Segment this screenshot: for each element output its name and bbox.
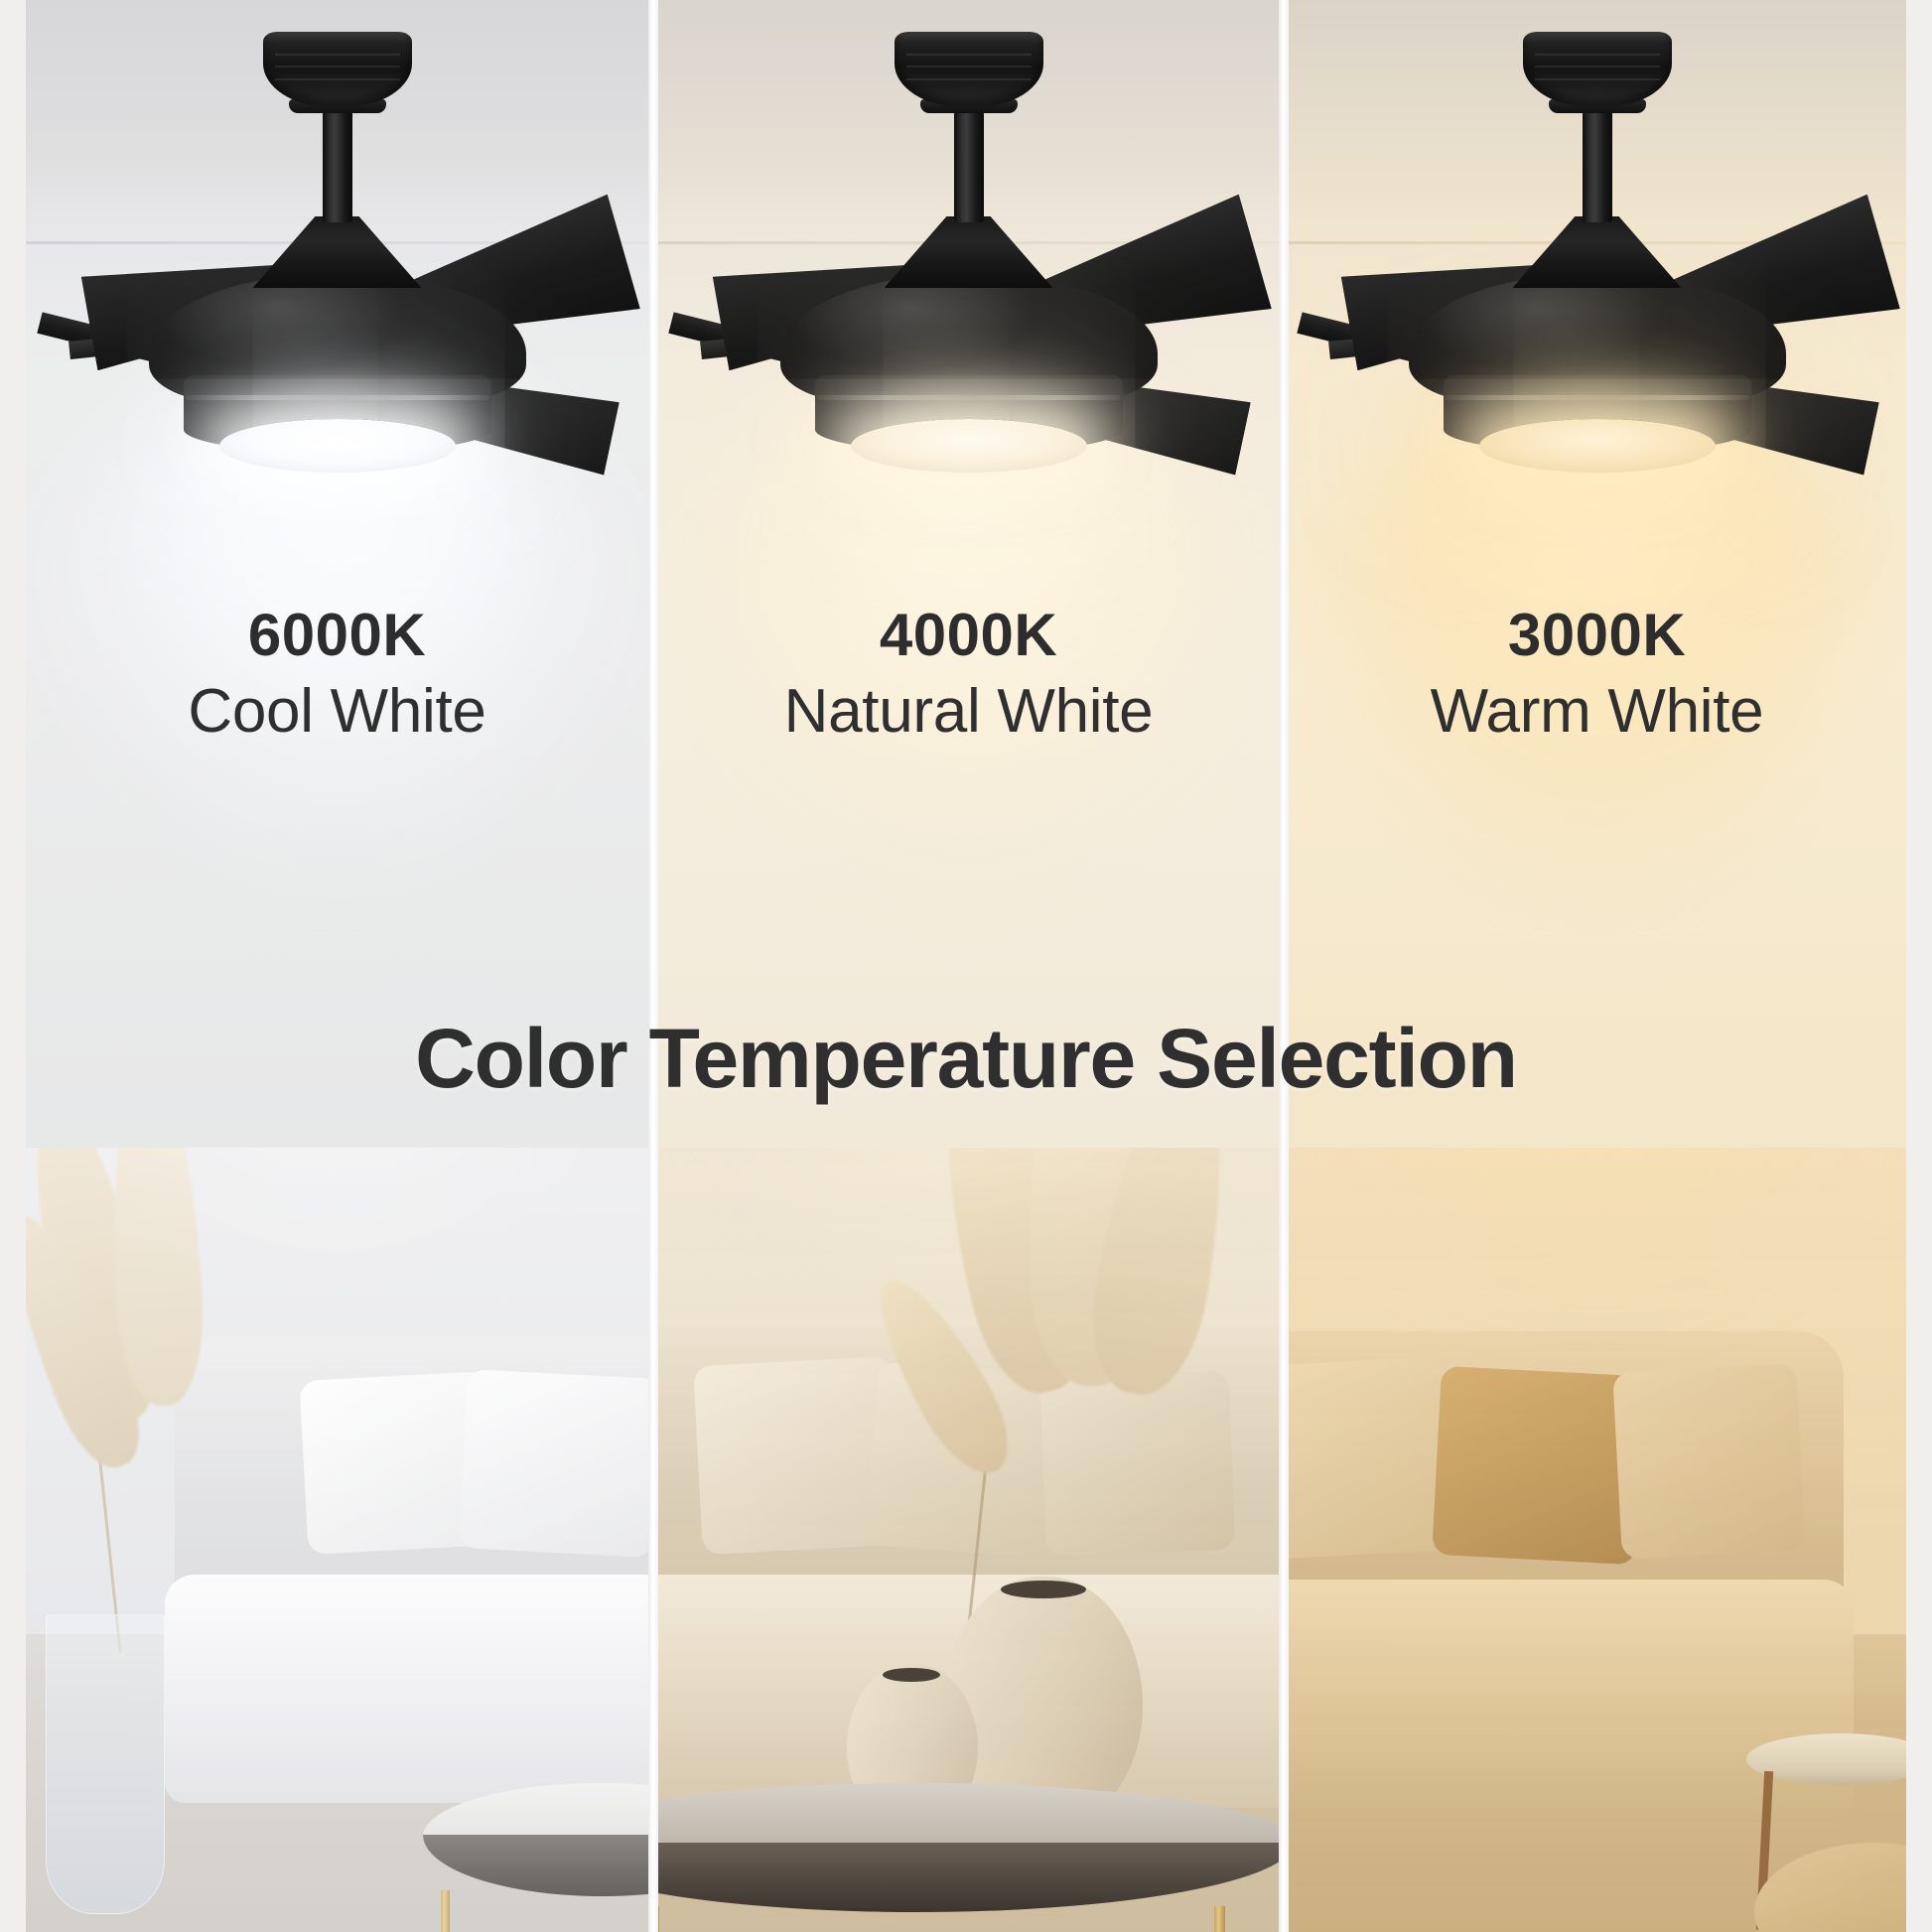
room-scene-natural [658,1148,1279,1932]
fan-downrod [323,111,352,222]
label-block-natural: 4000K Natural White [658,606,1279,744]
fan-motor-seam [186,395,489,400]
ceiling-fan-warm [1319,26,1875,492]
temp-name-warm: Warm White [1288,679,1906,744]
room-scene-cool [26,1148,648,1932]
fan-canopy [263,32,412,107]
panel-warm-white: 3000K Warm White [1288,0,1906,1932]
panel-divider [1279,0,1289,1932]
panel-cool-white: 6000K Cool White [26,0,648,1932]
throw-pillow [1612,1363,1806,1559]
panel-natural-white: 4000K Natural White [658,0,1279,1932]
label-block-cool: 6000K Cool White [26,606,648,744]
temp-name-natural: Natural White [658,679,1279,744]
fan-bell-yoke [885,216,1053,288]
page-title: Color Temperature Selection [0,1011,1932,1107]
glass-vase [46,1614,165,1914]
left-margin [0,0,26,1932]
room-scene-warm [1288,1148,1906,1932]
fan-downrod [1583,111,1612,222]
fan-bell-yoke [253,216,422,288]
fan-motor-seam [817,395,1121,400]
product-comparison-image: 6000K Cool White [0,0,1932,1932]
throw-pillow [1040,1371,1235,1557]
label-block-warm: 3000K Warm White [1288,606,1906,744]
fan-motor-seam [1446,395,1749,400]
fan-bell-yoke [1513,216,1682,288]
kelvin-value-warm: 3000K [1288,606,1906,665]
ceiling-fan-natural [691,26,1247,492]
light-diffuser-cool [219,419,456,473]
fan-canopy [1523,32,1672,107]
ceiling-fan-cool [60,26,616,492]
sofa-seat-cool [165,1575,648,1803]
temp-name-cool: Cool White [26,679,648,744]
panel-divider [648,0,658,1932]
light-diffuser-warm [1479,419,1716,473]
fan-downrod [954,111,984,222]
light-diffuser-natural [851,419,1087,473]
throw-pillow [458,1369,648,1558]
kelvin-value-natural: 4000K [658,606,1279,665]
fan-canopy [895,32,1043,107]
right-margin [1906,0,1932,1932]
kelvin-value-cool: 6000K [26,606,648,665]
